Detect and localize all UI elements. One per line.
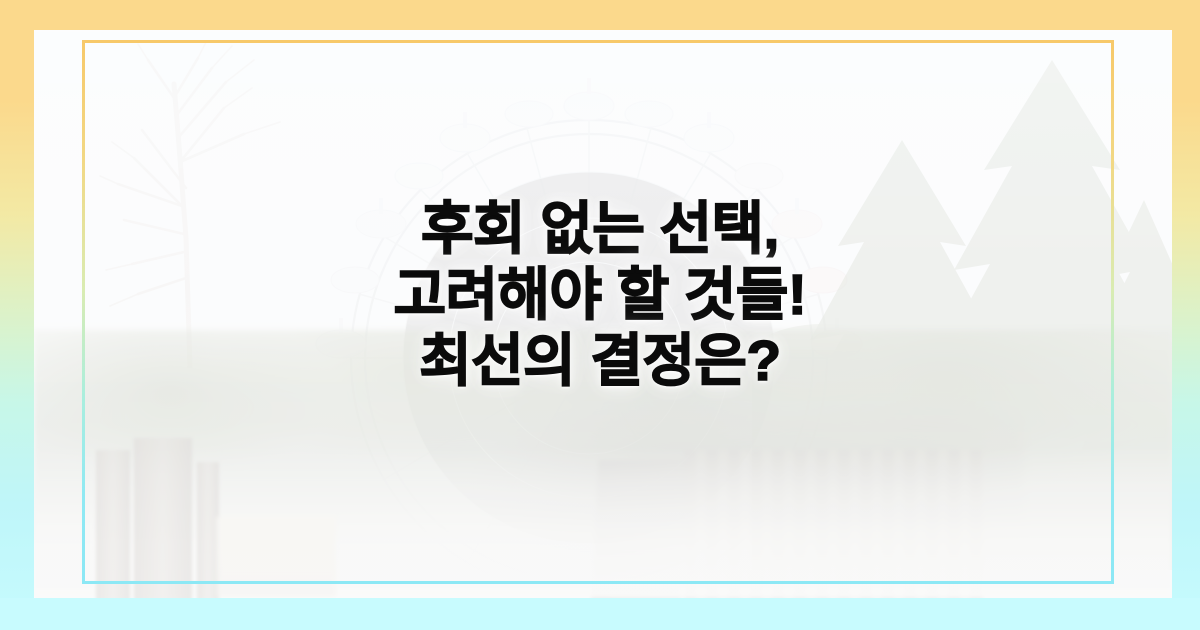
frame-band-top bbox=[0, 0, 1200, 30]
fence-post bbox=[96, 450, 130, 598]
headline-text: 후회 없는 선택, 고려해야 할 것들! 최선의 결정은? bbox=[0, 196, 1200, 394]
headline-line-2: 고려해야 할 것들! bbox=[0, 262, 1200, 328]
frame-band-bottom bbox=[0, 598, 1200, 630]
fence-post bbox=[134, 438, 192, 598]
headline-line-3: 최선의 결정은? bbox=[0, 328, 1200, 394]
low-stone-wall bbox=[216, 517, 336, 597]
headline-line-1: 후회 없는 선택, bbox=[0, 196, 1200, 262]
thumbnail-card: 후회 없는 선택, 고려해야 할 것들! 최선의 결정은? bbox=[0, 0, 1200, 630]
